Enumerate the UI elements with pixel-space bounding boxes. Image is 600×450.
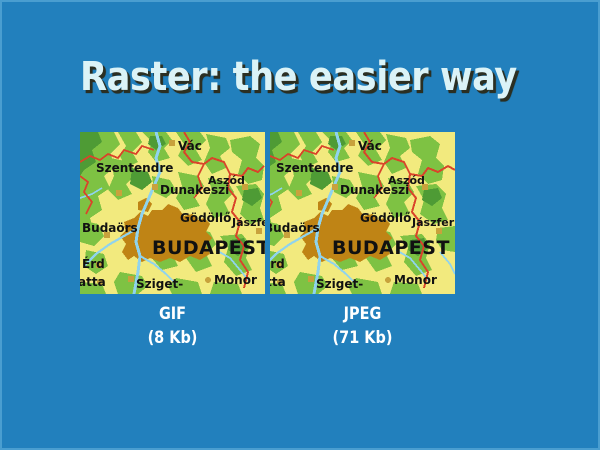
svg-text:Jászfer: Jászfer [411, 216, 455, 229]
svg-text:Sziget-: Sziget- [136, 277, 183, 291]
figure-jpeg[interactable]: Vác Szentendre Aszód Dunakeszi Gödöllő J… [270, 132, 455, 294]
caption-row: GIF (8 Kb) JPEG (71 Kb) [80, 302, 454, 350]
caption-gif-size: (8 Kb) [94, 326, 251, 350]
svg-text:Vác: Vác [178, 139, 202, 153]
svg-text:Érd: Érd [270, 256, 285, 271]
svg-text:atta: atta [270, 275, 286, 289]
page-title: Raster: the easier way [80, 54, 485, 100]
caption-gif: GIF (8 Kb) [80, 302, 265, 350]
svg-text:Gödöllő: Gödöllő [180, 211, 231, 225]
svg-text:BUDAPEST: BUDAPEST [152, 237, 265, 259]
svg-text:Sziget-: Sziget- [316, 277, 363, 291]
svg-text:Vác: Vác [358, 139, 382, 153]
svg-text:Monor: Monor [214, 273, 257, 287]
caption-jpeg-format: JPEG [284, 302, 441, 326]
svg-text:Monor: Monor [394, 273, 437, 287]
svg-text:Budaörs: Budaörs [270, 221, 320, 235]
caption-gif-format: GIF [94, 302, 251, 326]
svg-text:Dunakeszi: Dunakeszi [160, 183, 229, 197]
figure-gif[interactable]: Vác Szentendre Aszód Dunakeszi Gödöllő J… [80, 132, 265, 294]
map-image-gif[interactable]: Vác Szentendre Aszód Dunakeszi Gödöllő J… [80, 132, 265, 294]
svg-text:BUDAPEST: BUDAPEST [332, 237, 450, 259]
caption-jpeg: JPEG (71 Kb) [270, 302, 455, 350]
svg-text:Dunakeszi: Dunakeszi [340, 183, 409, 197]
svg-text:Budaörs: Budaörs [82, 221, 138, 235]
svg-text:atta: atta [80, 275, 106, 289]
caption-jpeg-size: (71 Kb) [284, 326, 441, 350]
svg-text:Szentendre: Szentendre [96, 161, 173, 175]
svg-text:Szentendre: Szentendre [276, 161, 353, 175]
svg-text:Jászfer: Jászfer [231, 216, 265, 229]
slide-canvas: Raster: the easier way [0, 0, 600, 450]
map-image-jpeg[interactable]: Vác Szentendre Aszód Dunakeszi Gödöllő J… [270, 132, 455, 294]
figure-row: Vác Szentendre Aszód Dunakeszi Gödöllő J… [80, 132, 455, 294]
svg-text:Gödöllő: Gödöllő [360, 211, 411, 225]
svg-text:Érd: Érd [82, 256, 105, 271]
